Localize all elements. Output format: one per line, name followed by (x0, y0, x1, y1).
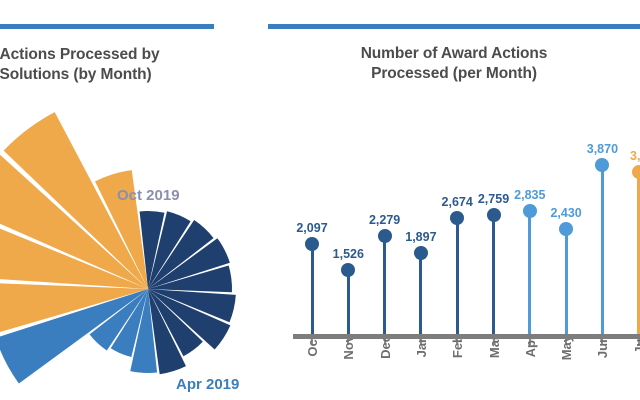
lollipop-dot[interactable] (523, 204, 537, 218)
lollipop-value-label: 1,897 (405, 230, 436, 244)
lollipop-dot[interactable] (450, 211, 464, 225)
lollipop-value-label: 3,870 (587, 142, 618, 156)
lollipop-dot[interactable] (414, 246, 428, 260)
lollipop-value-label: 3,7 (630, 149, 640, 163)
rose-start-label: Oct 2019 (117, 187, 180, 204)
lollipop-chart: 2,097Oct1,526Nov2,279Dec1,897Jan2,674Feb… (255, 0, 640, 400)
lollipop-dot[interactable] (341, 263, 355, 277)
slide-canvas: d Actions Processed by tSolutions (by Mo… (0, 0, 640, 400)
lollipop-value-label: 1,526 (333, 247, 364, 261)
rose-chart: Oct 2019 Apr 2019 (0, 0, 255, 400)
lollipop-value-label: 2,674 (442, 195, 473, 209)
lollipop-dot[interactable] (305, 237, 319, 251)
lollipop-value-label: 2,279 (369, 213, 400, 227)
x-axis-baseline (293, 334, 640, 339)
lollipop-stem (456, 218, 459, 338)
left-panel: d Actions Processed by tSolutions (by Mo… (0, 0, 255, 400)
lollipop-value-label: 2,759 (478, 192, 509, 206)
right-panel: Number of Award Actions Processed (per M… (255, 0, 640, 400)
lollipop-dot[interactable] (595, 158, 609, 172)
lollipop-dot[interactable] (487, 208, 501, 222)
lollipop-value-label: 2,097 (296, 221, 327, 235)
lollipop-stem (419, 253, 422, 338)
lollipop-stem (383, 236, 386, 338)
lollipop-dot[interactable] (378, 229, 392, 243)
rose-slice-group (0, 112, 236, 383)
lollipop-plot-area: 2,097Oct1,526Nov2,279Dec1,897Jan2,674Feb… (300, 150, 640, 338)
lollipop-stem (311, 244, 314, 338)
lollipop-value-label: 2,835 (514, 188, 545, 202)
lollipop-stem (528, 211, 531, 338)
lollipop-dot[interactable] (632, 165, 640, 179)
lollipop-stem (347, 270, 350, 338)
lollipop-stem (601, 165, 604, 338)
lollipop-value-label: 2,430 (550, 206, 581, 220)
lollipop-dot[interactable] (559, 222, 573, 236)
lollipop-stem (565, 229, 568, 338)
lollipop-stem (492, 215, 495, 338)
rose-end-label: Apr 2019 (176, 376, 239, 393)
